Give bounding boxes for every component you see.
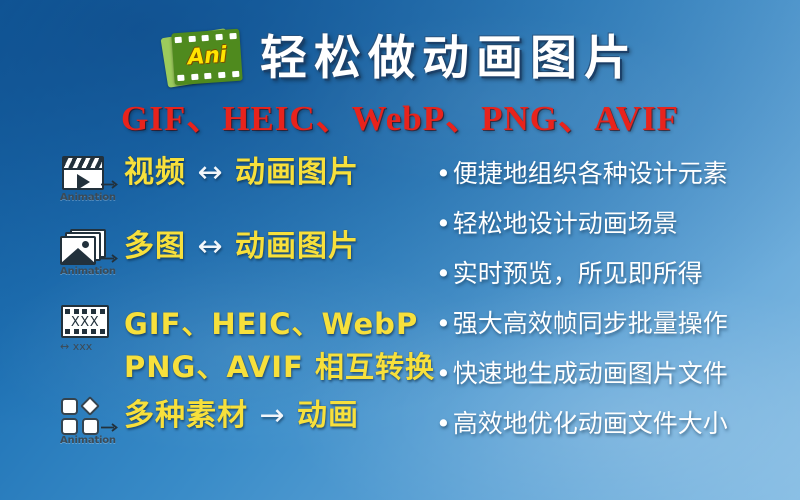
benefit-label: 快速地生成动画图片文件: [453, 358, 728, 390]
bullet-dot-icon: •: [436, 408, 451, 440]
shapes-assets-icon: [58, 397, 116, 437]
bullet-dot-icon: •: [436, 358, 451, 390]
feature-text-line1: GIF、HEIC、WebP: [124, 303, 435, 346]
clapperboard-stripe: [64, 158, 102, 170]
benefit-item: • 便捷地组织各种设计元素: [436, 158, 782, 190]
arrow-right-icon: [101, 423, 119, 432]
app-logo-icon: Ani: [162, 27, 246, 91]
feature-icon-caption: Animation: [60, 266, 116, 278]
feature-text: 视频 ↔ 动画图片: [124, 152, 359, 192]
header: Ani 轻松做动画图片: [0, 18, 800, 100]
poster-canvas: Ani 轻松做动画图片 GIF、HEIC、WebP、PNG、AVIF Anima…: [0, 0, 800, 500]
film-holes-top: [63, 308, 107, 315]
feature-list: Animation 视频 ↔ 动画图片: [58, 152, 428, 457]
film-strip-body: XXX: [61, 305, 109, 338]
benefit-label: 高效地优化动画文件大小: [453, 408, 728, 440]
bullet-dot-icon: •: [436, 258, 451, 290]
bullet-dot-icon: •: [436, 208, 451, 240]
feature-item-images: Animation 多图 ↔ 动画图片: [58, 226, 428, 288]
benefit-list: • 便捷地组织各种设计元素 • 轻松地设计动画场景 • 实时预览，所见即所得 •…: [436, 158, 782, 458]
square-shape-icon: [82, 418, 99, 435]
feature-icon-wrap: Animation: [58, 395, 124, 437]
logo-text: Ani: [172, 42, 242, 73]
feature-text: 多图 ↔ 动画图片: [124, 226, 359, 266]
arrow-right-icon: [101, 180, 119, 189]
feature-item-formats: XXX ↔ xxx GIF、HEIC、WebP PNG、AVIF 相互转换: [58, 302, 428, 389]
feature-arrow-icon: →: [259, 398, 285, 433]
benefit-label: 轻松地设计动画场景: [453, 208, 678, 240]
bullet-dot-icon: •: [436, 158, 451, 190]
photo-frame-front: [60, 236, 96, 265]
feature-icon-caption: Animation: [60, 435, 116, 447]
feature-arrow-icon: ↔: [197, 155, 223, 190]
benefit-item: • 强大高效帧同步批量操作: [436, 308, 782, 340]
feature-text-line2: PNG、AVIF 相互转换: [124, 346, 435, 389]
benefit-item: • 快速地生成动画图片文件: [436, 358, 782, 390]
feature-text-source: 多图: [124, 229, 186, 264]
arrow-right-icon: [101, 254, 119, 263]
feature-icon-wrap: Animation: [58, 152, 124, 194]
feature-icon-wrap: XXX ↔ xxx: [58, 302, 124, 344]
feature-text-target: 动画: [297, 398, 359, 433]
film-inner-label: XXX: [63, 316, 107, 330]
benefit-item: • 实时预览，所见即所得: [436, 258, 782, 290]
logo-front-card: Ani: [171, 29, 242, 86]
feature-item-assets: Animation 多种素材 → 动画: [58, 395, 428, 457]
page-subtitle: GIF、HEIC、WebP、PNG、AVIF: [0, 98, 800, 140]
feature-icon-caption: Animation: [60, 192, 116, 204]
feature-item-video: Animation 视频 ↔ 动画图片: [58, 152, 428, 214]
bullet-dot-icon: •: [436, 308, 451, 340]
benefit-item: • 高效地优化动画文件大小: [436, 408, 782, 440]
feature-arrow-icon: ↔: [197, 229, 223, 264]
multi-image-icon: [58, 228, 116, 268]
square-shape-icon: [61, 398, 78, 415]
square-shape-icon: [61, 418, 78, 435]
mountain-icon: [61, 248, 95, 263]
feature-text-source: 视频: [124, 155, 186, 190]
benefit-item: • 轻松地设计动画场景: [436, 208, 782, 240]
sun-icon: [82, 241, 89, 248]
benefit-label: 实时预览，所见即所得: [453, 258, 703, 290]
diamond-shape-icon: [80, 396, 100, 416]
feature-text: 多种素材 → 动画: [124, 395, 359, 435]
play-triangle-icon: [77, 174, 90, 190]
video-clapperboard-icon: [58, 154, 116, 194]
feature-icon-wrap: Animation: [58, 226, 124, 268]
page-title: 轻松做动画图片: [260, 31, 638, 87]
benefit-label: 便捷地组织各种设计元素: [453, 158, 728, 190]
feature-text-source: 多种素材: [124, 398, 248, 433]
feature-text: GIF、HEIC、WebP PNG、AVIF 相互转换: [124, 302, 435, 389]
film-strip-convert-icon: XXX ↔ xxx: [58, 304, 116, 344]
feature-text-target: 动画图片: [235, 229, 359, 264]
benefit-label: 强大高效帧同步批量操作: [453, 308, 728, 340]
feature-text-target: 动画图片: [235, 155, 359, 190]
clapperboard-body: [62, 156, 104, 190]
feature-icon-caption: ↔ xxx: [60, 340, 92, 353]
